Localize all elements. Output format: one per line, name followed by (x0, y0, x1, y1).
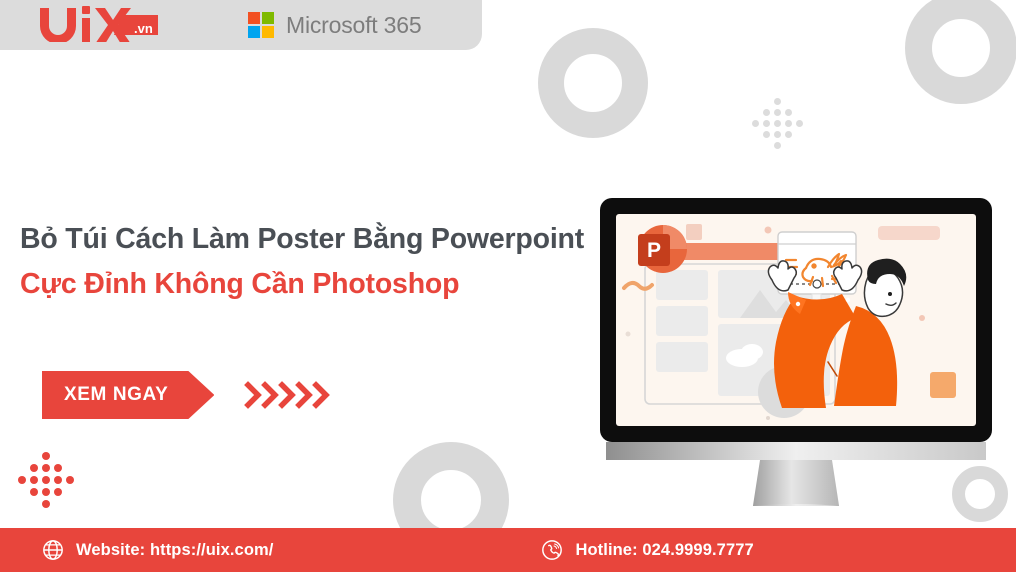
website-item[interactable]: Website: https://uix.com/ (42, 539, 273, 561)
decorative-ring-top-middle (538, 28, 648, 138)
decorative-ring-top-right (905, 0, 1016, 104)
halftone-dots-grey-icon (752, 98, 807, 153)
xem-ngay-button[interactable]: XEM NGAY (42, 371, 214, 419)
microsoft-365-badge[interactable]: Microsoft 365 (248, 12, 421, 39)
halftone-dots-red-icon (18, 452, 78, 512)
poster-canvas: .vn Microsoft 365 Bỏ Túi Cách Làm Poster… (0, 0, 1016, 572)
svg-text:P: P (647, 239, 661, 262)
headline-line-1: Bỏ Túi Cách Làm Poster Bằng Powerpoint (20, 222, 620, 257)
contact-footer: Website: https://uix.com/ Hotline: 024.9… (0, 528, 1016, 572)
website-text: Website: https://uix.com/ (76, 541, 273, 560)
headline-block: Bỏ Túi Cách Làm Poster Bằng Powerpoint C… (20, 222, 620, 302)
cta-row: XEM NGAY (42, 371, 338, 419)
hotline-item[interactable]: Hotline: 024.9999.7777 (541, 539, 753, 561)
brand-bar: .vn Microsoft 365 (0, 0, 482, 50)
monitor-illustration: P (600, 196, 992, 506)
globe-icon (42, 539, 64, 561)
headline-line-2: Cực Đỉnh Không Cần Photoshop (20, 267, 620, 302)
cta-label: XEM NGAY (64, 384, 168, 406)
microsoft-365-label: Microsoft 365 (286, 12, 421, 39)
microsoft-logo-icon (248, 12, 274, 38)
hotline-text: Hotline: 024.9999.7777 (575, 541, 753, 560)
phone-icon (541, 539, 563, 561)
svg-text:.vn: .vn (134, 21, 153, 36)
chevron-right-icon (244, 380, 338, 410)
uix-logo[interactable]: .vn (36, 8, 162, 42)
